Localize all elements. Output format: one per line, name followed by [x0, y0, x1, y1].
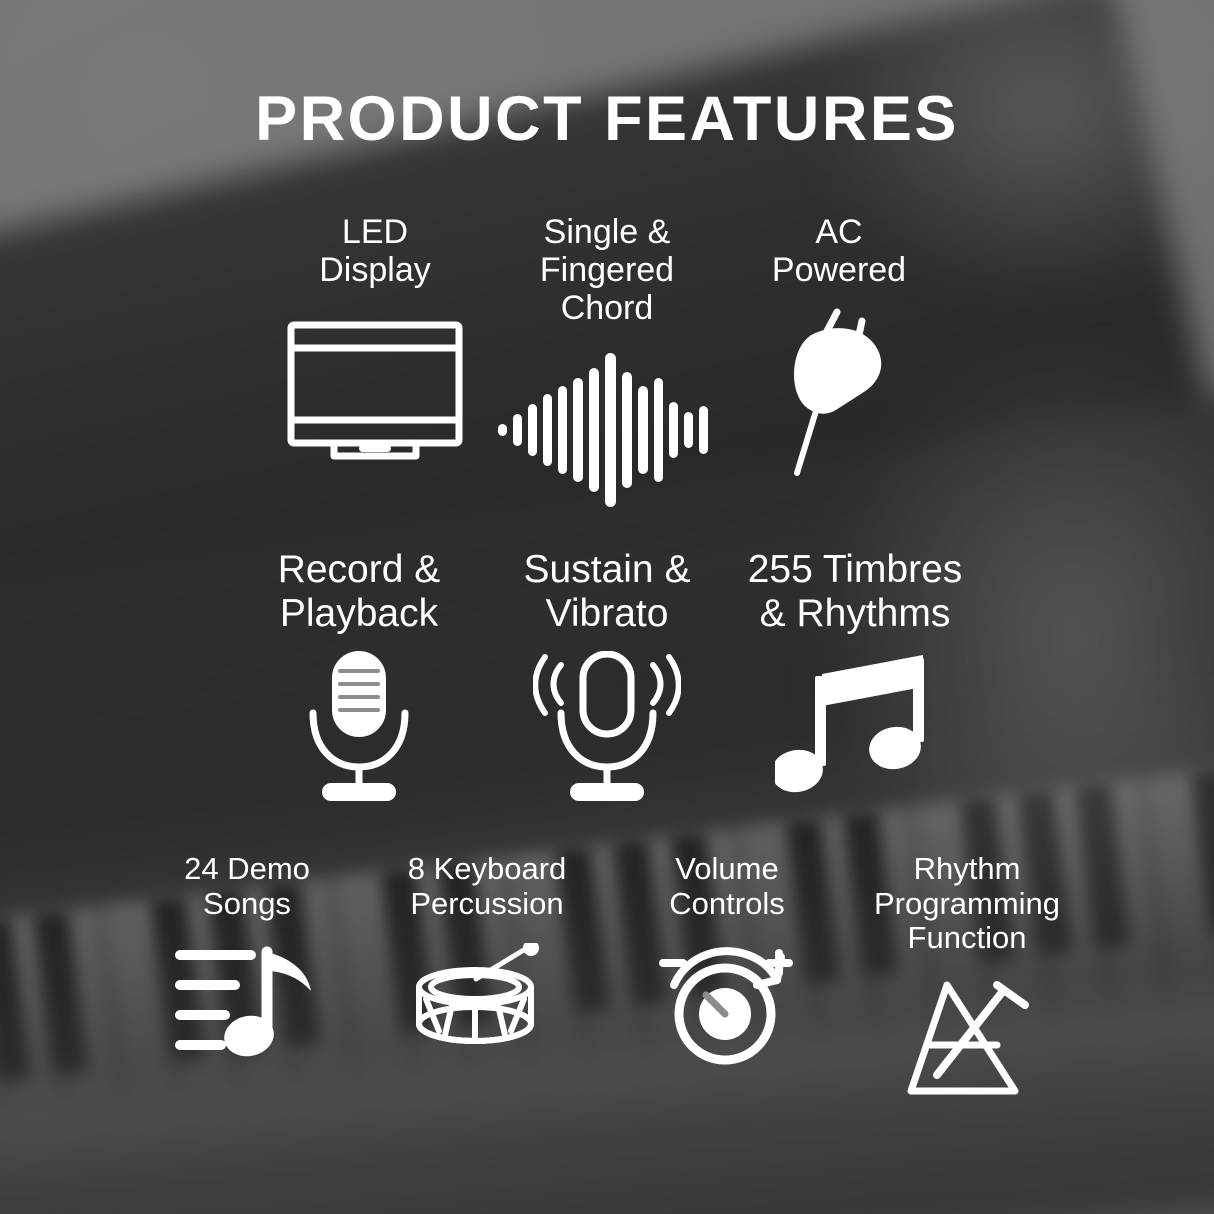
- feature-label: Record & Playback: [278, 548, 441, 635]
- feature-row-1: LED Display Single & Fingered Chord: [0, 213, 1214, 515]
- led-display-icon: [286, 307, 464, 477]
- music-playlist-icon: [173, 935, 321, 1075]
- feature-rhythm-programming: Rhythm Programming Function: [847, 852, 1087, 1110]
- power-plug-icon: [779, 307, 899, 477]
- feature-label: 255 Timbres & Rhythms: [748, 548, 963, 635]
- feature-label: Rhythm Programming Function: [874, 852, 1060, 956]
- feature-row-3: 24 Demo Songs 8 Keyboard Percussion: [0, 852, 1214, 1110]
- feature-label: AC Powered: [772, 213, 906, 289]
- feature-single-fingered-chord: Single & Fingered Chord: [491, 213, 723, 515]
- feature-label: LED Display: [319, 213, 430, 289]
- feature-row-2: Record & Playback Sustain & Vibra: [0, 548, 1214, 807]
- volume-knob-icon: [657, 935, 797, 1075]
- product-features-infographic: PRODUCT FEATURES LED Display Single & Fi…: [0, 0, 1214, 1214]
- feature-label: 8 Keyboard Percussion: [408, 852, 567, 921]
- feature-label: Sustain & Vibrato: [524, 548, 691, 635]
- feature-label: 24 Demo Songs: [184, 852, 310, 921]
- beamed-notes-icon: [775, 647, 935, 807]
- feature-volume-controls: Volume Controls: [607, 852, 847, 1075]
- microphone-icon: [300, 647, 418, 807]
- feature-label: Single & Fingered Chord: [491, 213, 723, 327]
- feature-sustain-vibrato: Sustain & Vibrato: [483, 548, 731, 807]
- snare-drum-icon: [413, 935, 561, 1075]
- feature-led-display: LED Display: [259, 213, 491, 515]
- feature-ac-powered: AC Powered: [723, 213, 955, 515]
- feature-label: Volume Controls: [669, 852, 784, 921]
- vibrato-microphone-icon: [533, 647, 681, 807]
- feature-demo-songs: 24 Demo Songs: [127, 852, 367, 1075]
- waveform-icon: [496, 345, 718, 515]
- feature-timbres-rhythms: 255 Timbres & Rhythms: [731, 548, 979, 807]
- feature-record-playback: Record & Playback: [235, 548, 483, 807]
- page-title: PRODUCT FEATURES: [0, 86, 1214, 152]
- feature-keyboard-percussion: 8 Keyboard Percussion: [367, 852, 607, 1075]
- metronome-icon: [901, 970, 1033, 1110]
